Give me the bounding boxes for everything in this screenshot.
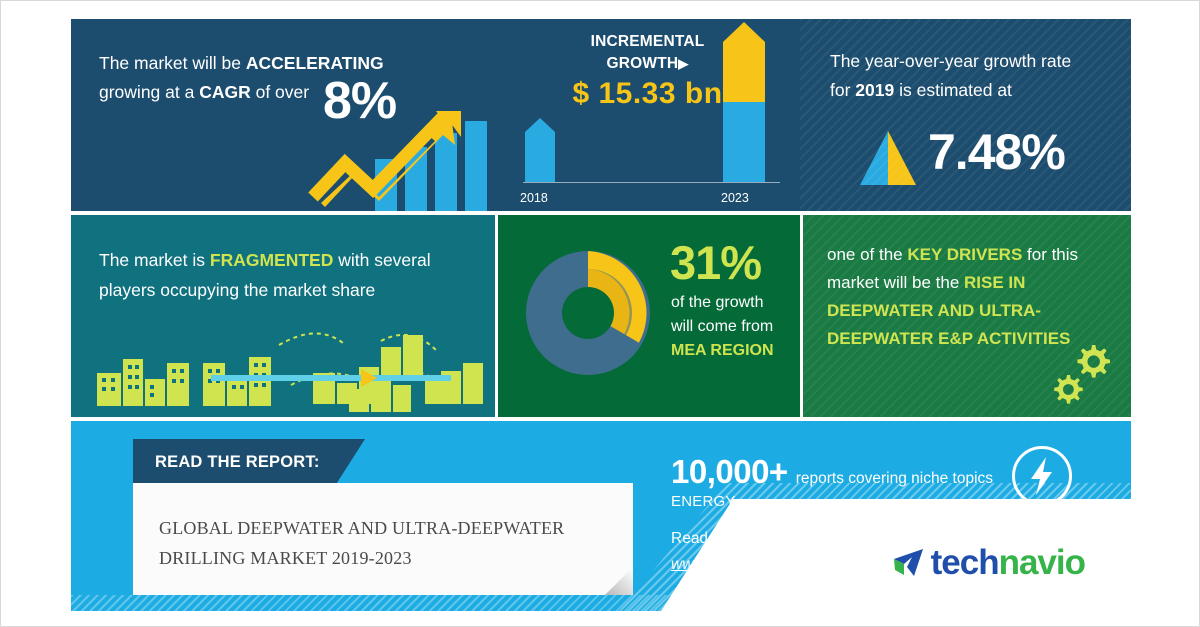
panel-incremental-growth: INCREMENTAL GROWTH▶ $ 15.33 bn 2018 2023 [495,19,800,211]
read-the-report-ribbon: READ THE REPORT: [133,439,365,489]
incremental-title-line2: GROWTH [606,55,678,72]
donut-chart-icon [512,237,664,389]
drivers-text-bold-4: DEEPWATER E&P ACTIVITIES [827,329,1070,348]
fragmented-text-3: players occupying the market share [99,280,375,300]
fragmented-text-2: with several [333,250,430,270]
reports-stat: 10,000+reports covering niche topics ENE… [671,453,993,510]
gears-icon [1045,337,1117,409]
logo-text-tech: tech [931,543,999,582]
drivers-text-bold-1: KEY DRIVERS [907,245,1022,264]
technavio-wordmark: technavio [931,543,1085,583]
logo-text-navio: navio [999,543,1085,582]
report-title-line1: GLOBAL DEEPWATER AND ULTRA-DEEPWATER [159,518,564,538]
bar-2018 [525,118,555,182]
market-flow-arrow-icon [211,365,451,391]
row-top: The market will be ACCELERATING growing … [71,19,1131,211]
fragmented-text: The market is FRAGMENTED with several pl… [99,245,489,305]
panel-cagr: The market will be ACCELERATING growing … [71,19,495,211]
yoy-value: 7.48% [928,123,1065,181]
growth-triangle-icon [860,131,916,185]
incremental-axis-line [523,182,780,183]
report-title: GLOBAL DEEPWATER AND ULTRA-DEEPWATER DRI… [159,513,607,573]
reports-category: ENERGY [671,493,993,510]
yoy-text-1: The year-over-year growth rate [830,51,1071,71]
yoy-text-3: is estimated at [894,80,1012,100]
report-title-card[interactable]: GLOBAL DEEPWATER AND ULTRA-DEEPWATER DRI… [133,483,633,595]
drivers-text-bold-3: DEEPWATER AND ULTRA- [827,301,1041,320]
drivers-text-bold-2: RISE IN [964,273,1025,292]
cagr-text-3: of over [251,82,309,102]
incremental-title-line1: INCREMENTAL [591,33,705,50]
row-middle: The market is FRAGMENTED with several pl… [71,215,1131,417]
mea-value: 31% [670,235,761,290]
yoy-text-2: for [830,80,855,100]
bar-2023 [723,22,765,182]
cagr-text-bold-2: CAGR [199,82,251,102]
mea-subtext-2: will come from [671,318,773,335]
energy-bolt-icon [1011,445,1073,507]
drivers-text-2: for this [1022,245,1078,264]
reports-description: reports covering niche topics [796,470,993,487]
technavio-website-link[interactable]: www.technavio.com [671,556,808,573]
cagr-text-bold-1: ACCELERATING [246,53,384,73]
drivers-text-3: market will be the [827,273,964,292]
technavio-logo: technavio [890,543,1085,583]
read-the-report-label: READ THE REPORT: [155,453,320,472]
yoy-text: The year-over-year growth rate for 2019 … [830,47,1116,105]
mea-region-label: MEA REGION [671,342,774,359]
report-title-line2: DRILLING MARKET 2019-2023 [159,548,412,568]
drivers-text-1: one of the [827,245,907,264]
mea-subtext: of the growth will come from MEA REGION [671,291,800,363]
row-footer: READ THE REPORT: GLOBAL DEEPWATER AND UL… [71,421,1131,611]
mea-subtext-1: of the growth [671,294,764,311]
label-2018: 2018 [520,191,548,205]
yoy-text-bold: 2019 [855,80,894,100]
cagr-text-2: growing at a [99,82,199,102]
cagr-text-1: The market will be [99,53,246,73]
panel-mea-share: 31% of the growth will come from MEA REG… [498,215,800,417]
label-2023: 2023 [721,191,749,205]
infographic-frame: The market will be ACCELERATING growing … [0,0,1200,627]
panel-footer: READ THE REPORT: GLOBAL DEEPWATER AND UL… [71,421,1131,611]
cagr-value: 8% [323,71,396,131]
panel-fragmented: The market is FRAGMENTED with several pl… [71,215,495,417]
panel-yoy-growth: The year-over-year growth rate for 2019 … [800,19,1131,211]
technavio-paper-plane-icon [890,546,924,580]
caret-right-icon: ▶ [678,56,688,71]
infographic-canvas: The market will be ACCELERATING growing … [71,19,1131,611]
reports-count: 10,000+ [671,453,788,490]
read-them-at-label: Read them at: [671,530,768,547]
fragmented-text-bold: FRAGMENTED [210,250,333,270]
panel-key-drivers: one of the KEY DRIVERS for this market w… [803,215,1131,417]
fragmented-text-1: The market is [99,250,210,270]
read-them-at: Read them at: www.technavio.com [671,526,808,578]
